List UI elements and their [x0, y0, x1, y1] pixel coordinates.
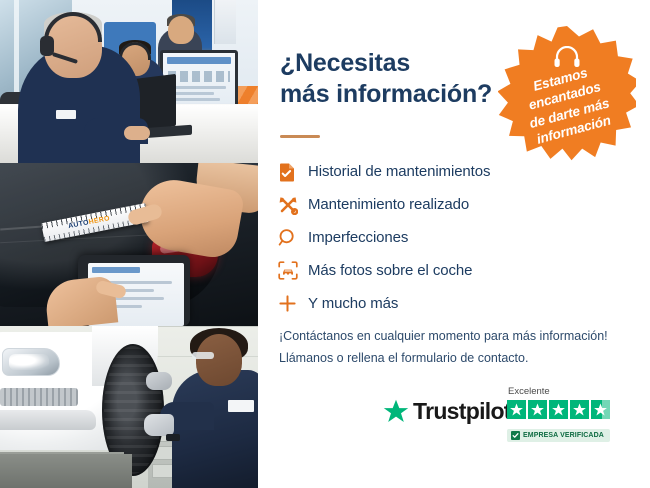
feature-item-maintenance-history: Historial de mantenimientos	[278, 155, 618, 188]
check-square-icon	[511, 431, 520, 440]
trustpilot-wordmark: Trustpilot	[413, 398, 511, 425]
page-title-line-1: ¿Necesitas	[280, 48, 510, 79]
feature-list: Historial de mantenimientos Mantenimient…	[278, 155, 618, 320]
star-box-partial	[591, 400, 610, 419]
feature-label: Mantenimiento realizado	[308, 196, 469, 213]
plus-icon	[278, 294, 308, 313]
maintenance-history-icon	[278, 162, 308, 182]
trustpilot-star-icon	[383, 399, 409, 424]
feature-label: Imperfecciones	[308, 229, 408, 246]
contact-paragraph-line-2: Llámanos o rellena el formulario de cont…	[279, 348, 634, 370]
trustpilot-logo: Trustpilot	[383, 398, 511, 425]
photo-column: AUTOHERO	[0, 0, 258, 488]
page-title-line-2: más información?	[280, 79, 510, 110]
feature-item-much-more: Y mucho más	[278, 287, 618, 320]
verified-label: EMPRESA VERIFICADA	[523, 432, 604, 439]
feature-label: Más fotos sobre el coche	[308, 262, 472, 279]
rating-label: Excelente	[507, 386, 635, 397]
star-box	[549, 400, 568, 419]
contact-paragraph-line-1: ¡Contáctanos en cualquier momento para m…	[279, 326, 634, 348]
contact-paragraph: ¡Contáctanos en cualquier momento para m…	[279, 326, 634, 369]
feature-item-maintenance-done: Mantenimiento realizado	[278, 188, 618, 221]
workshop-tire-inspection-photo	[0, 326, 258, 488]
feature-item-imperfections: Imperfecciones	[278, 221, 618, 254]
headset-icon	[554, 46, 580, 68]
title-divider	[280, 135, 320, 138]
trustpilot-block: Trustpilot Excelente	[383, 386, 635, 448]
wrench-screwdriver-icon	[278, 195, 308, 215]
star-box	[570, 400, 589, 419]
star-box	[528, 400, 547, 419]
feature-label: Y mucho más	[308, 295, 398, 312]
magnifier-icon	[278, 228, 308, 247]
feature-item-more-photos: Más fotos sobre el coche	[278, 254, 618, 287]
info-badge: Estamos encantados de darte más informac…	[498, 26, 636, 164]
verified-badge: EMPRESA VERIFICADA	[507, 429, 610, 442]
call-center-agents-photo	[0, 0, 258, 163]
content-panel: ¿Necesitas más información? Estamos enca…	[258, 0, 650, 488]
car-scan-icon	[278, 261, 308, 280]
promo-card: AUTOHERO	[0, 0, 650, 488]
feature-label: Historial de mantenimientos	[308, 163, 490, 180]
car-inspection-ruler-photo: AUTOHERO	[0, 163, 258, 326]
star-rating	[507, 400, 635, 419]
page-title: ¿Necesitas más información?	[280, 48, 510, 109]
star-box	[507, 400, 526, 419]
trustpilot-rating: Excelente	[507, 386, 635, 419]
